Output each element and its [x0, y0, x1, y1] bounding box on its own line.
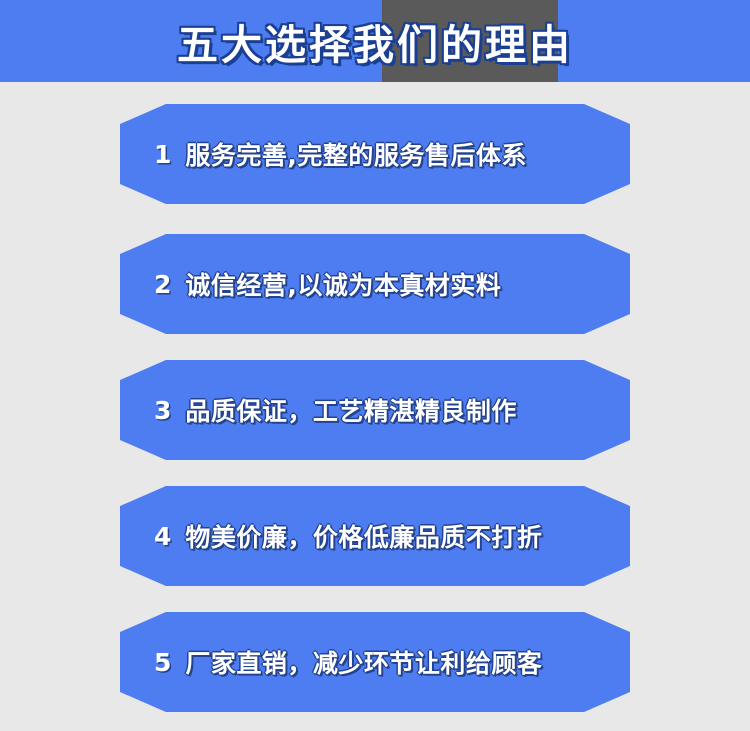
- reasons-list: 1 服务完善,完整的服务售后体系 2 诚信经营,以诚为本真材实料 3 品质保证，…: [0, 82, 750, 731]
- reason-text-1: 服务完善,完整的服务售后体系: [185, 136, 527, 172]
- list-item: 4 物美价廉，价格低廉品质不打折: [0, 486, 750, 586]
- page-header: 五大选择我们的理由: [0, 0, 750, 82]
- list-item: 1 服务完善,完整的服务售后体系: [0, 104, 750, 204]
- reason-banner-1: 1 服务完善,完整的服务售后体系: [120, 104, 630, 204]
- reason-banner-5: 5 厂家直销，减少环节让利给顾客: [120, 612, 630, 712]
- reason-banner-3: 3 品质保证，工艺精湛精良制作: [120, 360, 630, 460]
- list-item: 2 诚信经营,以诚为本真材实料: [0, 234, 750, 334]
- reason-number-4: 4: [154, 522, 171, 551]
- page-title: 五大选择我们的理由: [0, 0, 750, 82]
- reason-number-2: 2: [154, 270, 171, 299]
- reason-banner-4: 4 物美价廉，价格低廉品质不打折: [120, 486, 630, 586]
- list-item: 5 厂家直销，减少环节让利给顾客: [0, 612, 750, 712]
- reason-text-3: 品质保证，工艺精湛精良制作: [185, 392, 517, 428]
- reason-text-5: 厂家直销，减少环节让利给顾客: [185, 644, 542, 680]
- reason-number-5: 5: [154, 648, 171, 677]
- reason-text-4: 物美价廉，价格低廉品质不打折: [185, 518, 542, 554]
- reason-number-1: 1: [154, 140, 171, 169]
- reason-text-2: 诚信经营,以诚为本真材实料: [185, 266, 501, 302]
- reason-number-3: 3: [154, 396, 171, 425]
- promo-page: 五大选择我们的理由 1 服务完善,完整的服务售后体系 2 诚信经营,以诚为本真材…: [0, 0, 750, 731]
- reason-banner-2: 2 诚信经营,以诚为本真材实料: [120, 234, 630, 334]
- list-item: 3 品质保证，工艺精湛精良制作: [0, 360, 750, 460]
